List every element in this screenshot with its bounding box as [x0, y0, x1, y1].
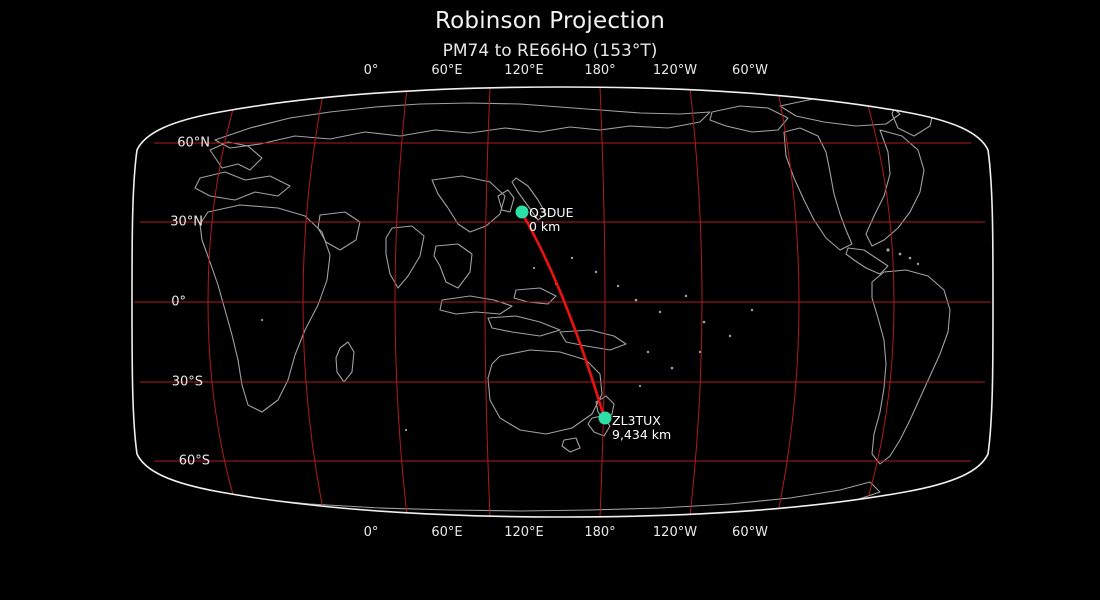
lon-tick-bottom-180: 180° — [584, 525, 615, 540]
annotation-destination: ZL3TUX 9,434 km — [612, 414, 671, 442]
lat-tick-30n: 30°N — [113, 215, 203, 230]
lon-tick-top-0: 0° — [364, 63, 379, 78]
map-background — [120, 80, 1000, 530]
lat-tick-60n: 60°N — [120, 136, 210, 151]
lon-tick-bottom-60w: 60°W — [732, 525, 768, 540]
destination-distance: 9,434 km — [612, 428, 671, 442]
lon-tick-top-120e: 120°E — [504, 63, 544, 78]
origin-distance: 0 km — [529, 220, 573, 234]
map-figure: Robinson Projection PM74 to RE66HO (153°… — [0, 0, 1100, 600]
origin-callsign: Q3DUE — [529, 206, 573, 220]
annotation-origin: Q3DUE 0 km — [529, 206, 573, 234]
marker-origin[interactable] — [516, 206, 529, 219]
lon-tick-bottom-0: 0° — [364, 525, 379, 540]
lon-tick-bottom-60e: 60°E — [431, 525, 462, 540]
lat-tick-30s: 30°S — [113, 375, 203, 390]
lon-tick-top-180: 180° — [584, 63, 615, 78]
destination-callsign: ZL3TUX — [612, 414, 671, 428]
map-interior — [120, 80, 1000, 530]
lon-tick-top-120w: 120°W — [653, 63, 697, 78]
lat-tick-60s: 60°S — [120, 454, 210, 469]
lat-tick-0: 0° — [96, 295, 186, 310]
lon-tick-top-60e: 60°E — [431, 63, 462, 78]
lon-tick-top-60w: 60°W — [732, 63, 768, 78]
marker-destination[interactable] — [599, 412, 612, 425]
lon-tick-bottom-120w: 120°W — [653, 525, 697, 540]
lon-tick-bottom-120e: 120°E — [504, 525, 544, 540]
